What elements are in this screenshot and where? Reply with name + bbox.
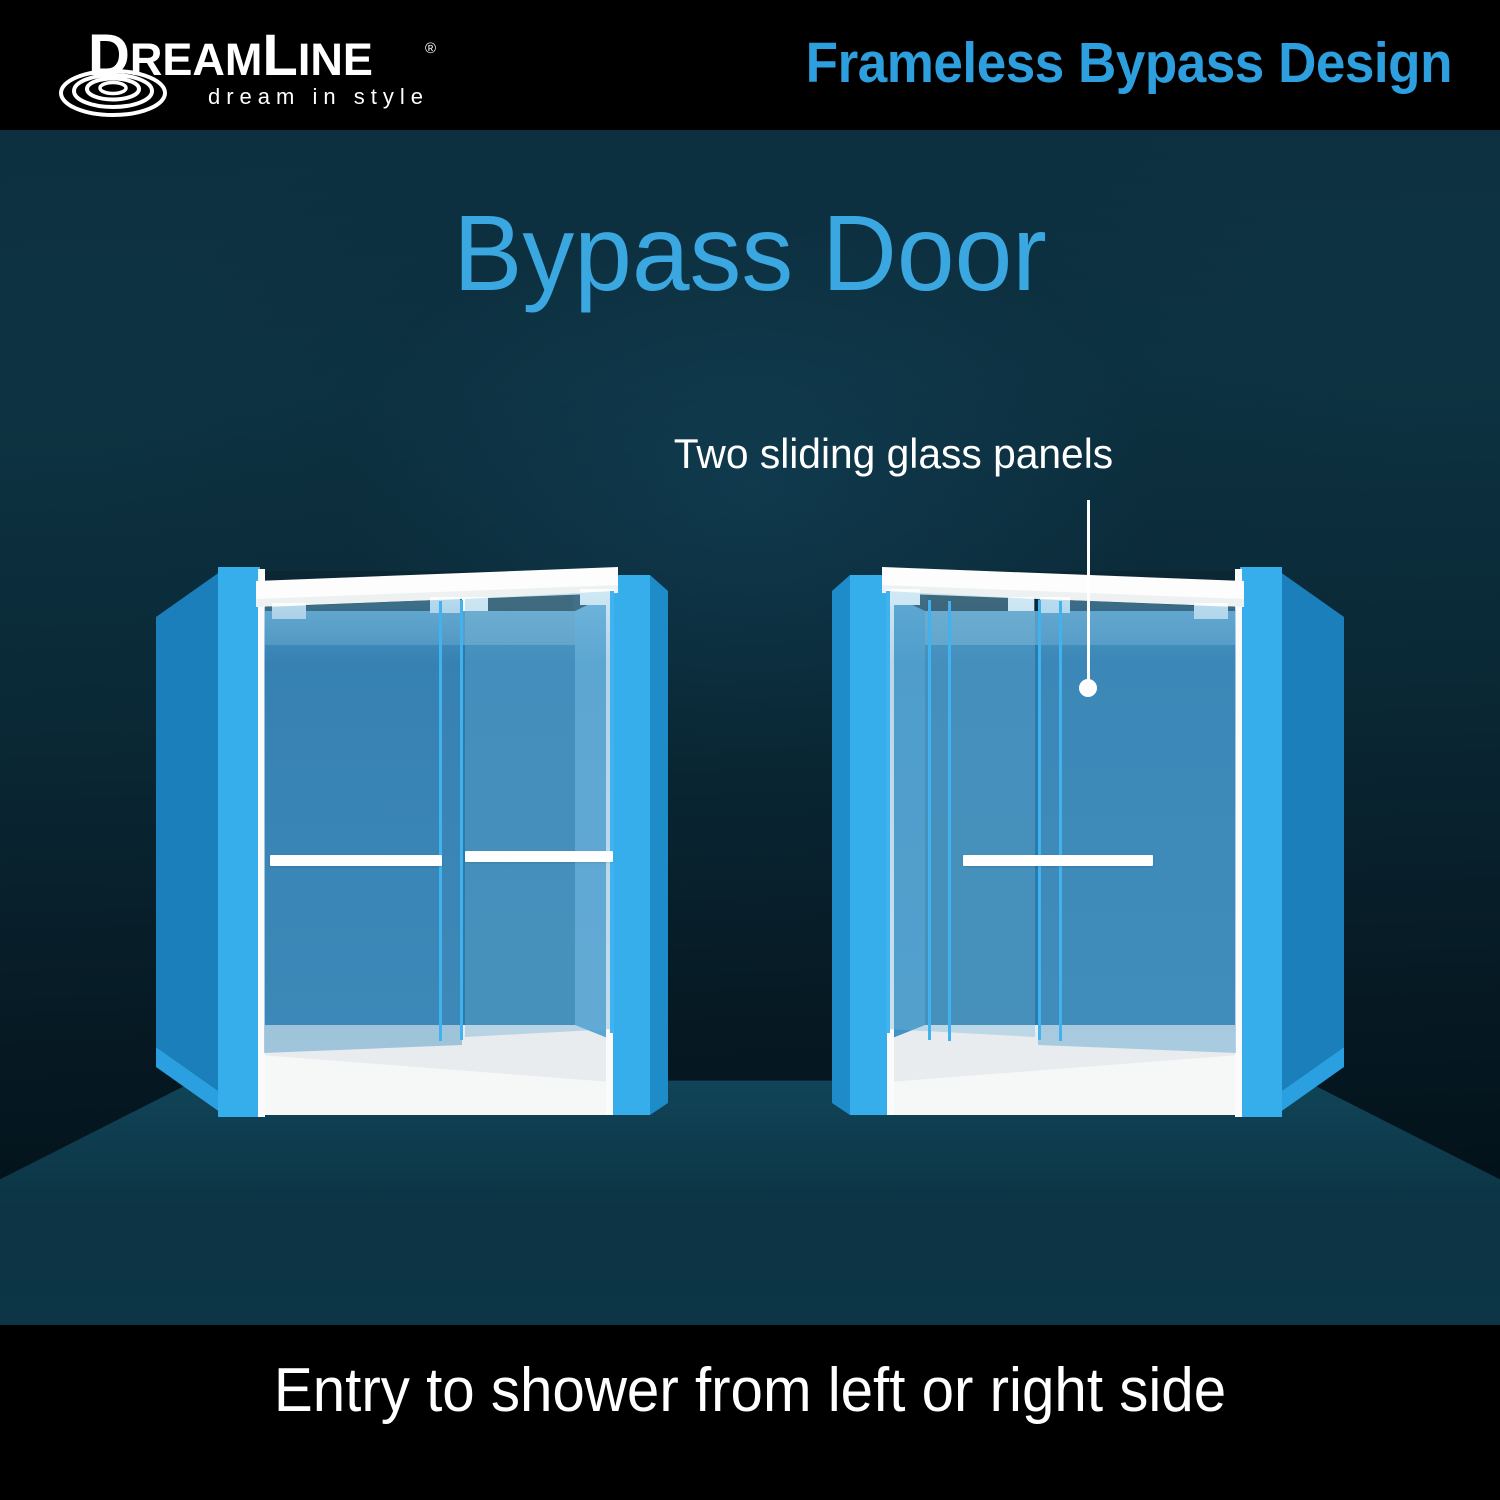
logo-letter-d: D xyxy=(88,23,130,88)
left-glass-panel-rear xyxy=(465,591,614,1037)
right-glass-edge-a xyxy=(1059,601,1062,1041)
logo-text-ine: INE xyxy=(298,34,373,85)
annotation-leader-dot xyxy=(1079,679,1097,697)
registered-mark: ® xyxy=(425,40,436,57)
logo-letter-l: L xyxy=(262,23,297,88)
infographic-canvas: Bypass Door Two sliding glass panels xyxy=(0,0,1500,1500)
annotation-leader-line xyxy=(1087,500,1090,688)
right-glass-panel-front xyxy=(1038,599,1236,1053)
shower-enclosure-left xyxy=(140,555,680,1255)
logo-wordmark: DREAMLINE xyxy=(88,22,373,89)
right-glass-edge-d xyxy=(928,600,931,1040)
right-glass-panels xyxy=(820,555,1360,1255)
right-glass-edge-e xyxy=(886,591,890,1033)
left-glass-edge-b xyxy=(460,600,463,1040)
shower-enclosure-right xyxy=(820,555,1360,1255)
left-glass-panel-front xyxy=(264,599,462,1053)
right-glass-edge-c xyxy=(948,601,951,1041)
right-glass-edge-b xyxy=(1038,600,1041,1040)
footer-caption: Entry to shower from left or right side xyxy=(45,1355,1455,1426)
left-handle-front-panel xyxy=(270,855,442,866)
header-bar: DREAMLINE ® dream in style Frameless Byp… xyxy=(0,0,1500,130)
logo-tagline: dream in style xyxy=(208,84,429,110)
left-glass-edge-c xyxy=(610,591,614,1033)
right-glass-panel-rear xyxy=(886,591,1035,1037)
footer-bar: Entry to shower from left or right side xyxy=(0,1325,1500,1500)
left-handle-rear-panel xyxy=(465,851,613,862)
logo-text-ream: REAM xyxy=(130,34,263,85)
left-glass-panels xyxy=(140,555,680,1255)
header-subtitle: Frameless Bypass Design xyxy=(806,30,1452,96)
left-glass-edge-a xyxy=(439,601,442,1041)
right-handle-rear-panel xyxy=(963,855,1153,866)
brand-logo[interactable]: DREAMLINE ® dream in style xyxy=(58,22,458,122)
page-title: Bypass Door xyxy=(30,190,1470,315)
